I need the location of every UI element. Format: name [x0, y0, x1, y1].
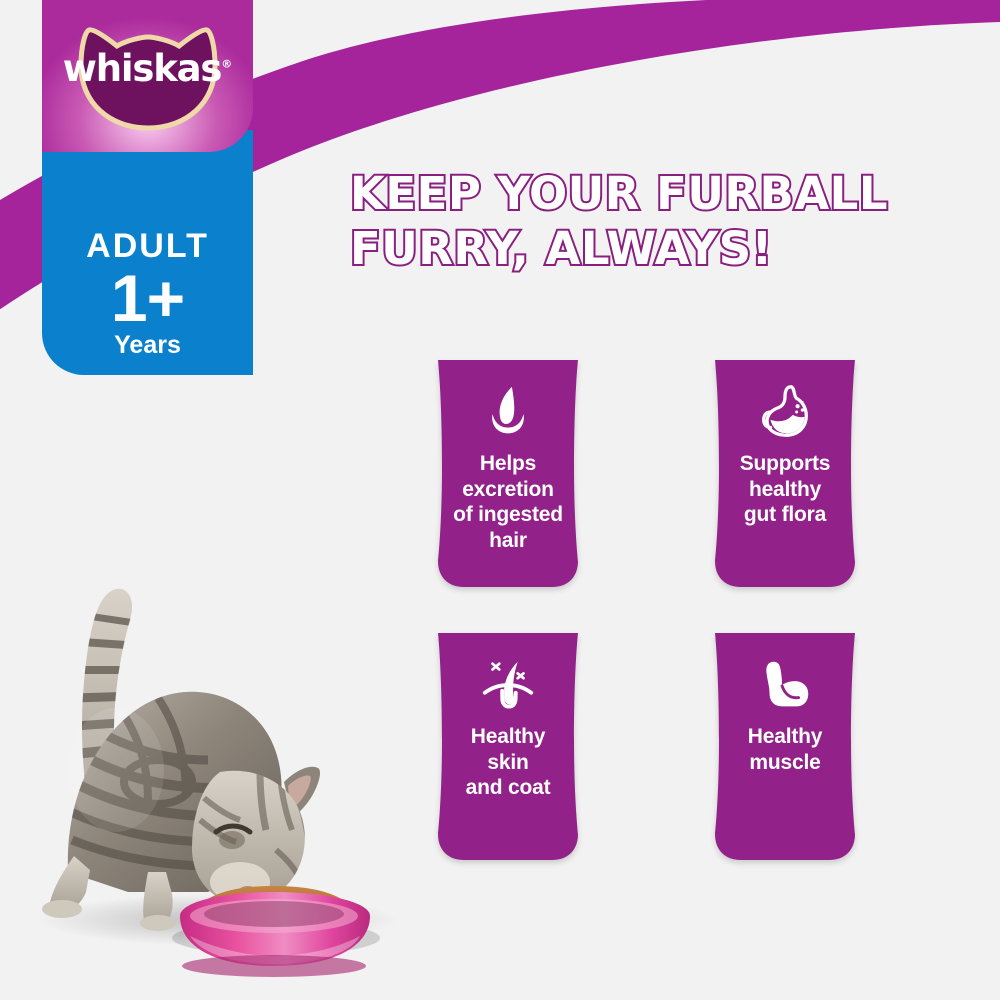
benefit-card: Healthy muscle	[701, 630, 869, 863]
brand-wordmark: whiskas®	[42, 50, 253, 87]
benefit-card-label: Supports healthy gut flora	[734, 451, 837, 528]
cat-eating-photo	[8, 520, 408, 1000]
age-badge-panel: ADULT 1+ Years	[42, 130, 253, 375]
brand-logo-badge: whiskas®	[42, 0, 253, 152]
cat-head	[192, 767, 320, 904]
age-badge-unit: Years	[42, 332, 253, 360]
age-badge-label: ADULT	[42, 229, 253, 263]
benefit-card: Supports healthy gut flora	[701, 357, 869, 590]
benefit-card-label: Helps excretion of ingested hair	[447, 451, 569, 553]
benefit-card: Healthy skin and coat	[424, 630, 592, 863]
benefit-cards-grid: Helps excretion of ingested hair Support…	[424, 357, 894, 877]
whiskas-promo-banner: ADULT 1+ Years whiskas® KEEP YOUR FURBAL…	[0, 0, 1000, 1000]
headline: KEEP YOUR FURBALL FURRY, ALWAYS!	[350, 167, 950, 277]
benefit-card-label: Healthy muscle	[742, 724, 828, 775]
stomach-icon	[754, 381, 816, 443]
hair-follicle-sparkle-icon	[477, 654, 539, 716]
benefit-card: Helps excretion of ingested hair	[424, 357, 592, 590]
brand-name: whiskas	[63, 47, 221, 90]
benefit-card-label: Healthy skin and coat	[460, 724, 557, 801]
age-badge-number: 1+	[42, 267, 253, 330]
fur-droplet-icon	[477, 381, 539, 443]
flexed-bicep-icon	[754, 654, 816, 716]
registered-mark: ®	[221, 58, 232, 71]
